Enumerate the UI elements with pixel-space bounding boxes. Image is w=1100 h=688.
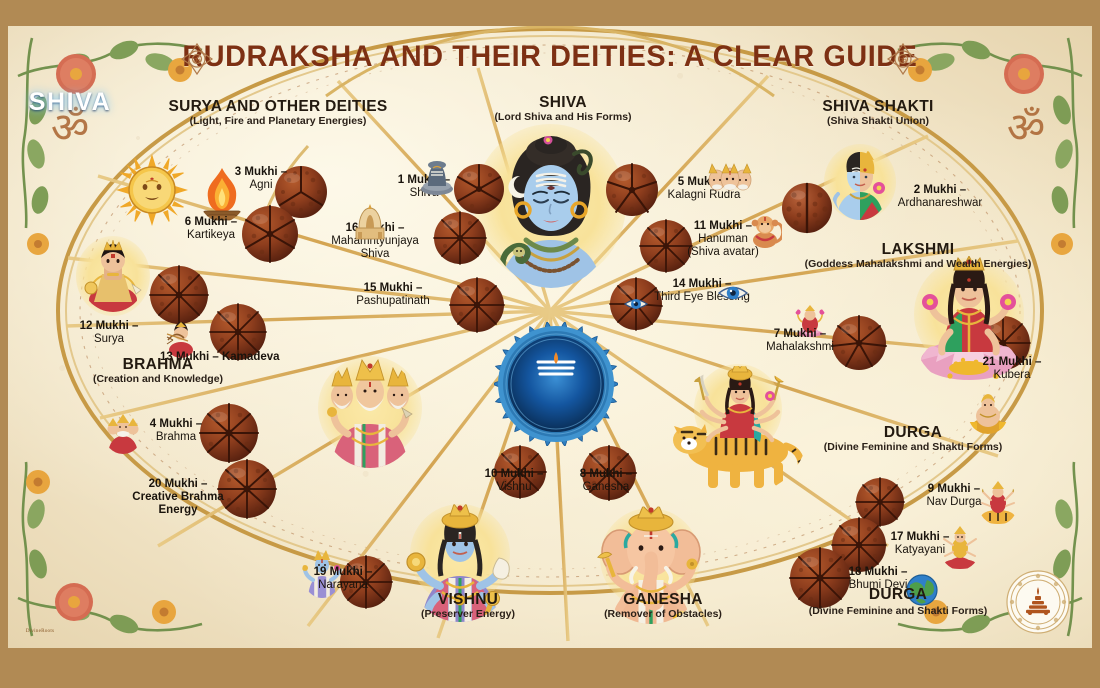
section-heading-durga-bottom: DURGA (Divine Feminine and Shakti Forms) bbox=[808, 586, 988, 618]
entry-deity-cont: Energy bbox=[118, 504, 238, 517]
section-title: BRAHMA bbox=[48, 356, 268, 373]
section-subtitle: (Shiva Shakti Union) bbox=[768, 116, 988, 128]
section-subtitle: (Light, Fire and Planetary Energies) bbox=[128, 116, 428, 128]
brahma-portrait bbox=[320, 358, 420, 468]
section-heading-vishnu: VISHNU (Preserver Energy) bbox=[378, 591, 558, 621]
label-21-mukhi: 21 Mukhi – Kubera bbox=[964, 356, 1060, 382]
entry-deity: Brahma bbox=[126, 431, 226, 444]
section-subtitle: (Divine Feminine and Shakti Forms) bbox=[788, 442, 1038, 454]
section-heading-shiva-shakti: SHIVA SHAKTI (Shiva Shakti Union) bbox=[768, 98, 988, 128]
section-heading-lakshmi: LAKSHMI (Goddess Mahalakshmi and Wealth … bbox=[768, 241, 1068, 271]
entry-mukhi: 19 Mukhi – bbox=[290, 566, 396, 579]
section-subtitle: (Remover of Obstacles) bbox=[553, 609, 773, 621]
parchment-canvas: ॐ ॐ RUDRAKSHA AND THEIR DEITIES: A CLEAR… bbox=[8, 26, 1092, 648]
poster-title-bar: RUDRAKSHA AND THEIR DEITIES: A CLEAR GUI… bbox=[8, 40, 1092, 74]
section-subtitle: (Creation and Knowledge) bbox=[48, 374, 268, 386]
section-title: VISHNU bbox=[378, 591, 558, 608]
section-subtitle: (Lord Shiva and His Forms) bbox=[463, 112, 663, 124]
entry-deity: Mahalakshmi bbox=[748, 341, 852, 354]
label-9-mukhi: 9 Mukhi – Nav Durga bbox=[904, 483, 1004, 509]
entry-deity: Surya bbox=[64, 333, 154, 346]
infographic-poster: ॐ ॐ RUDRAKSHA AND THEIR DEITIES: A CLEAR… bbox=[0, 0, 1100, 688]
title-medallion-left-icon: ॐ bbox=[180, 42, 214, 76]
entry-deity: Creative Brahma bbox=[118, 491, 238, 504]
section-heading-durga-right: DURGA (Divine Feminine and Shakti Forms) bbox=[788, 424, 1038, 454]
section-title: SHIVA bbox=[463, 94, 663, 111]
section-heading-brahma: BRAHMA (Creation and Knowledge) bbox=[48, 356, 268, 386]
title-medallion-right-icon: ॐ bbox=[886, 42, 920, 76]
section-heading-surya: SURYA AND OTHER DEITIES (Light, Fire and… bbox=[128, 98, 428, 128]
svg-text:ॐ: ॐ bbox=[1007, 103, 1045, 152]
entry-mukhi: 12 Mukhi – bbox=[64, 320, 154, 333]
temple-icon bbox=[353, 204, 387, 240]
entry-mukhi: 2 Mukhi – bbox=[880, 184, 1000, 197]
section-title: SURYA AND OTHER DEITIES bbox=[128, 98, 428, 115]
entry-mukhi: 20 Mukhi – bbox=[118, 478, 238, 491]
section-title: GANESHA bbox=[553, 591, 773, 608]
entry-mukhi: 10 Mukhi – bbox=[462, 468, 566, 481]
label-3-mukhi: 3 Mukhi – Agni bbox=[206, 166, 316, 192]
svg-text:ॐ: ॐ bbox=[899, 56, 906, 65]
section-heading-ganesha: GANESHA (Remover of Obstacles) bbox=[553, 591, 773, 621]
entry-mukhi: 4 Mukhi – bbox=[126, 418, 226, 431]
entry-deity: Kubera bbox=[964, 369, 1060, 382]
entry-deity-cont: Shiva bbox=[314, 248, 436, 261]
label-4-mukhi: 4 Mukhi – Brahma bbox=[126, 418, 226, 444]
entry-deity: Nav Durga bbox=[904, 496, 1004, 509]
divineroots-logo[interactable] bbox=[1006, 570, 1070, 634]
entry-deity: Katyayani bbox=[870, 544, 970, 557]
label-17-mukhi: 17 Mukhi – Katyayani bbox=[870, 531, 970, 557]
entry-deity: Agni bbox=[206, 179, 316, 192]
center-medallion-label: SHIVA bbox=[8, 88, 132, 117]
label-10-mukhi: 10 Mukhi – Vishnu bbox=[462, 468, 566, 494]
bead-2-mukhi bbox=[780, 181, 834, 235]
label-6-mukhi: 6 Mukhi – Kartikeya bbox=[156, 216, 266, 242]
label-8-mukhi: 8 Mukhi – Ganesha bbox=[554, 468, 658, 494]
entry-mukhi: 21 Mukhi – bbox=[964, 356, 1060, 369]
shivalinga-icon bbox=[420, 158, 454, 196]
entry-mukhi: 15 Mukhi – bbox=[338, 282, 448, 295]
entry-mukhi: 8 Mukhi – bbox=[554, 468, 658, 481]
surya-deity-icon bbox=[80, 240, 146, 312]
entry-deity: Kartikeya bbox=[156, 229, 266, 242]
label-20-mukhi: 20 Mukhi – Creative Brahma Energy bbox=[118, 478, 238, 517]
entry-deity: Vishnu bbox=[462, 481, 566, 494]
section-subtitle: (Preserver Energy) bbox=[378, 609, 558, 621]
entry-mukhi: 3 Mukhi – bbox=[206, 166, 316, 179]
entry-deity: Ardhanareshwar bbox=[880, 197, 1000, 210]
bead-12-mukhi bbox=[148, 264, 210, 326]
bead-16-mukhi bbox=[432, 210, 488, 266]
label-15-mukhi: 15 Mukhi – Pashupatinath bbox=[338, 282, 448, 308]
entry-mukhi: 18 Mukhi – bbox=[828, 566, 928, 579]
section-subtitle: (Divine Feminine and Shakti Forms) bbox=[808, 605, 988, 617]
entry-mukhi: 17 Mukhi – bbox=[870, 531, 970, 544]
section-title: DURGA bbox=[788, 424, 1038, 441]
entry-mukhi: 9 Mukhi – bbox=[904, 483, 1004, 496]
section-subtitle: (Goddess Mahalakshmi and Wealth Energies… bbox=[768, 259, 1068, 271]
label-2-mukhi: 2 Mukhi – Ardhanareshwar bbox=[880, 184, 1000, 210]
svg-text:ॐ: ॐ bbox=[51, 103, 89, 152]
label-12-mukhi: 12 Mukhi – Surya bbox=[64, 320, 154, 346]
logo-wordmark: DivineRoots bbox=[8, 628, 72, 634]
label-7-mukhi: 7 Mukhi – Mahalakshmi bbox=[748, 328, 852, 354]
svg-text:ॐ: ॐ bbox=[193, 56, 200, 65]
kalagni-rudra-icon bbox=[708, 160, 752, 194]
entry-mukhi: 6 Mukhi – bbox=[156, 216, 266, 229]
third-eye-icon bbox=[718, 282, 748, 304]
label-19-mukhi: 19 Mukhi – Narayana bbox=[290, 566, 396, 592]
durga-on-tiger bbox=[668, 366, 808, 496]
section-heading-shiva: SHIVA (Lord Shiva and His Forms) bbox=[463, 94, 663, 124]
page-title: RUDRAKSHA AND THEIR DEITIES: A CLEAR GUI… bbox=[182, 40, 917, 74]
section-title: LAKSHMI bbox=[768, 241, 1068, 258]
entry-deity: Pashupatinath bbox=[338, 295, 448, 308]
entry-deity: Ganesha bbox=[554, 481, 658, 494]
center-shiva-medallion[interactable] bbox=[494, 322, 618, 446]
shiva-portrait bbox=[486, 136, 616, 288]
entry-mukhi: 7 Mukhi – bbox=[748, 328, 852, 341]
section-title: SHIVA SHAKTI bbox=[768, 98, 988, 115]
section-title: DURGA bbox=[808, 586, 988, 604]
